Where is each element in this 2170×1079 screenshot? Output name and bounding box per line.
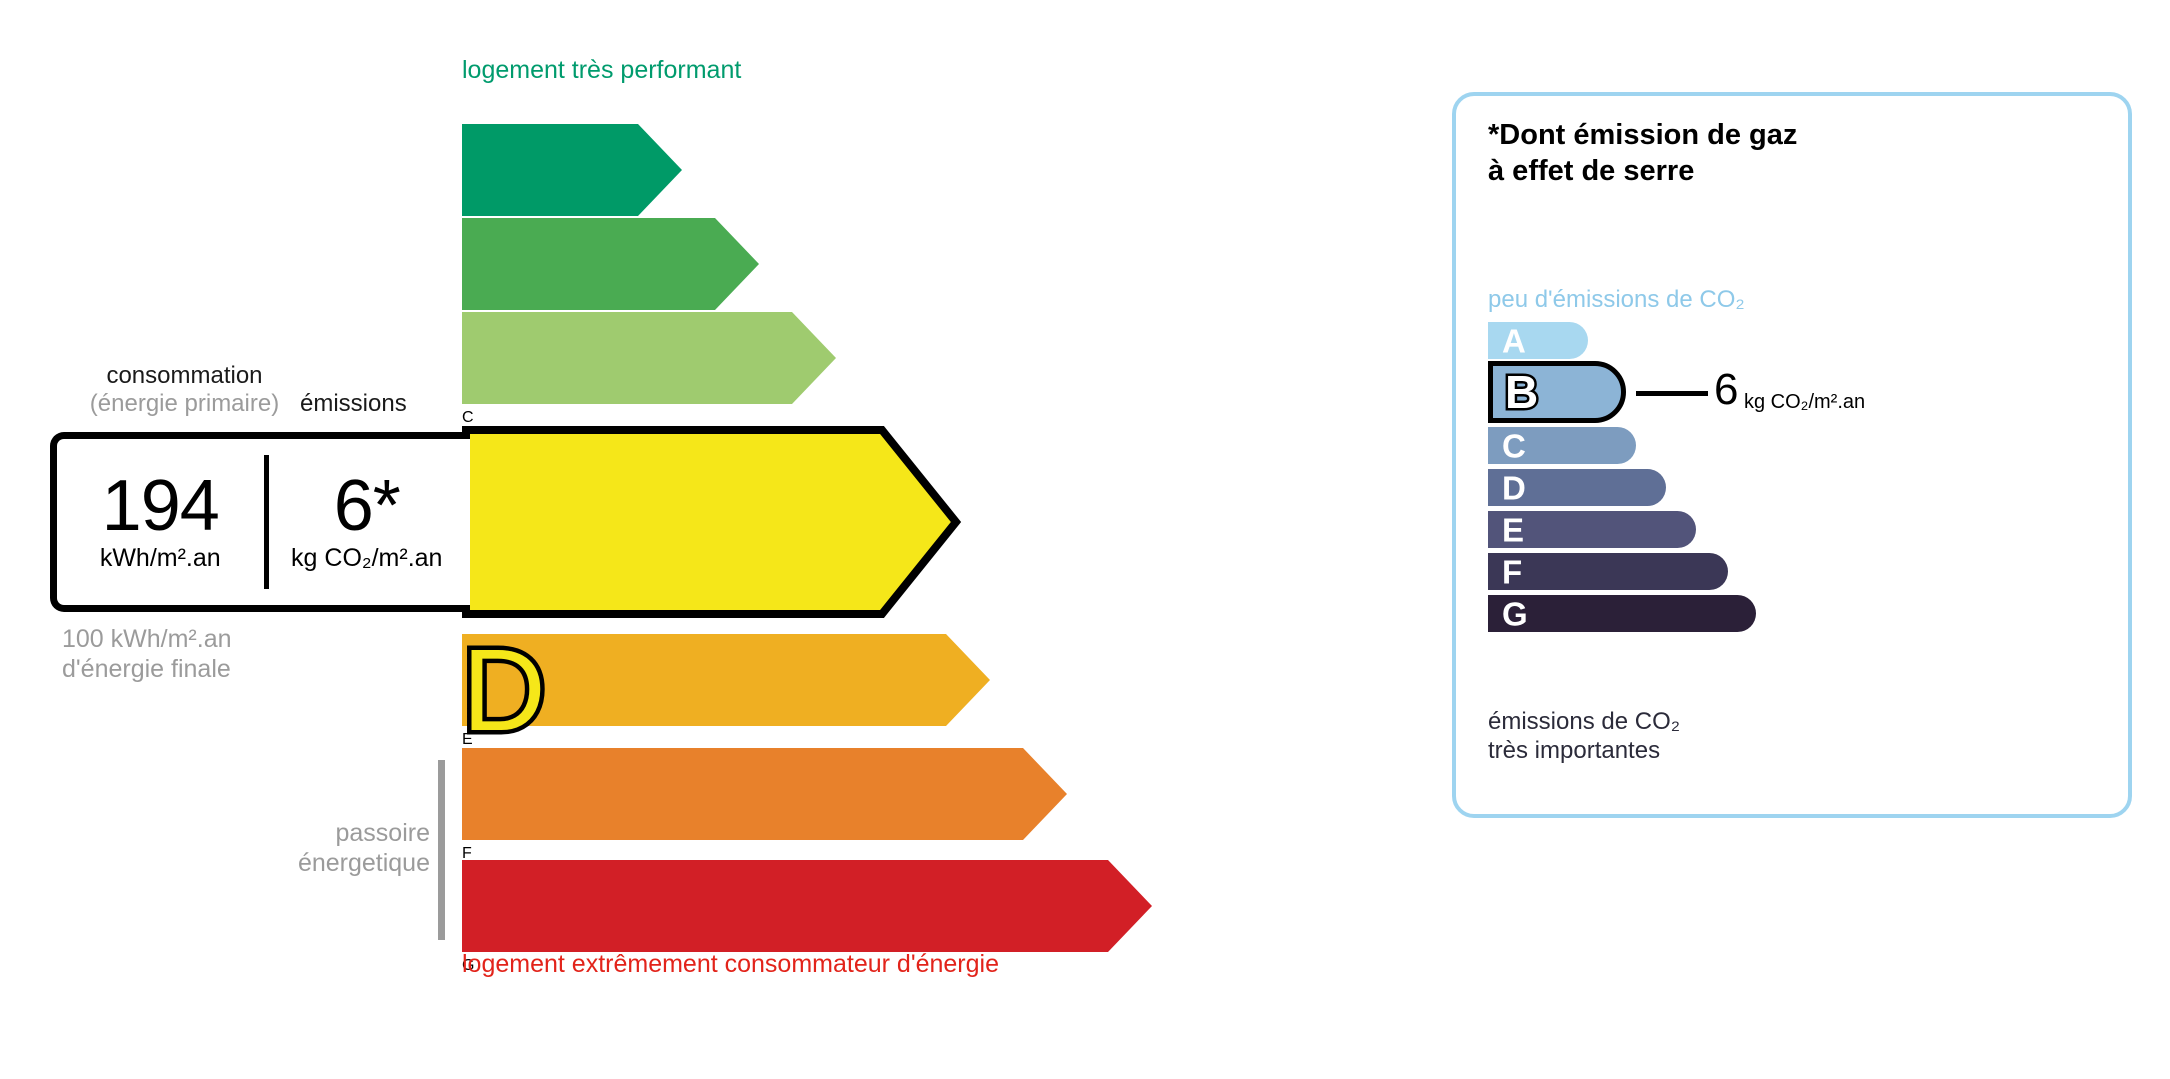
ges-class-letter-g: G — [1502, 597, 1528, 630]
ges-title-line1: *Dont émission de gaz — [1488, 118, 1797, 154]
ges-class-row-g[interactable]: G — [1488, 595, 1756, 632]
ges-bar-c: C — [1488, 427, 1636, 464]
ges-bottom-caption-line1: émissions de CO₂ — [1488, 708, 1680, 737]
ges-class-row-e[interactable]: E — [1488, 511, 1696, 548]
ges-class-letter-a: A — [1502, 324, 1526, 357]
ges-class-letter-c: C — [1502, 429, 1526, 462]
consumption-value: 194 — [102, 471, 219, 542]
ges-bar-g: G — [1488, 595, 1756, 632]
energy-arrow-c — [462, 312, 836, 404]
final-energy-note: 100 kWh/m².an d'énergie finale — [62, 624, 232, 684]
ges-bottom-caption: émissions de CO₂ très importantes — [1488, 708, 1680, 766]
dpe-value-box: 194 kWh/m².an 6* kg CO₂/m².an — [50, 432, 470, 612]
ges-class-row-b-selected[interactable]: B — [1488, 361, 1626, 423]
consumption-unit: kWh/m².an — [100, 544, 221, 573]
ges-class-letter-d: D — [1502, 471, 1526, 504]
energy-arrow-a — [462, 124, 682, 216]
dpe-energy-panel: logement très performant A B C D E — [0, 0, 1400, 1079]
consumption-header-line1: consommation — [106, 362, 262, 389]
final-energy-line1: 100 kWh/m².an — [62, 624, 232, 654]
ges-co2-panel: *Dont émission de gaz à effet de serre p… — [1452, 92, 2132, 818]
consumption-header: consommation (énergie primaire) — [62, 362, 307, 419]
energy-class-row-g[interactable]: G — [462, 860, 1152, 952]
ges-leader-line — [1636, 391, 1708, 396]
ges-class-row-f[interactable]: F — [1488, 553, 1728, 590]
ges-class-row-d[interactable]: D — [1488, 469, 1666, 506]
energy-class-row-c[interactable]: C — [462, 312, 836, 404]
energy-arrow-b — [462, 218, 759, 310]
energy-scale-bottom-caption: logement extrêmement consommateur d'éner… — [462, 950, 999, 979]
ges-bar-a: A — [1488, 322, 1588, 359]
ges-bottom-caption-line2: très importantes — [1488, 737, 1680, 766]
final-energy-line2: d'énergie finale — [62, 654, 232, 684]
energy-arrow-f — [462, 748, 1067, 840]
energy-class-letter-d: D — [462, 625, 546, 755]
energy-arrow-d-selected — [462, 426, 962, 618]
ges-bar-d: D — [1488, 469, 1666, 506]
energy-class-row-d[interactable]: D — [462, 426, 962, 618]
energy-arrow-g — [462, 860, 1152, 952]
consumption-header-line2: (énergie primaire) — [62, 390, 307, 418]
ges-value-unit: kg CO₂/m².an — [1744, 392, 1865, 412]
ges-title-line2: à effet de serre — [1488, 154, 1797, 190]
passoire-bracket — [438, 760, 445, 940]
ges-class-row-a[interactable]: A — [1488, 322, 1588, 359]
energy-class-letter-c: C — [462, 409, 474, 426]
energy-scale-top-caption: logement très performant — [462, 56, 741, 85]
emissions-unit: kg CO₂/m².an — [291, 544, 442, 573]
energy-class-row-a[interactable]: A — [462, 124, 682, 216]
energy-class-row-f[interactable]: F — [462, 748, 1067, 840]
ges-top-caption: peu d'émissions de CO₂ — [1488, 286, 1745, 314]
passoire-line2: énergetique — [250, 848, 430, 878]
ges-panel-title: *Dont émission de gaz à effet de serre — [1488, 118, 1797, 190]
consumption-value-cell: 194 kWh/m².an — [57, 439, 264, 605]
ges-value: 6 — [1714, 368, 1738, 412]
ges-class-letter-f: F — [1502, 555, 1522, 588]
ges-class-row-c[interactable]: C — [1488, 427, 1636, 464]
ges-class-letter-b: B — [1505, 369, 1538, 415]
energy-class-row-b[interactable]: B — [462, 218, 759, 310]
passoire-label: passoire énergetique — [250, 818, 430, 878]
emissions-value-cell: 6* kg CO₂/m².an — [264, 439, 471, 605]
ges-bar-f: F — [1488, 553, 1728, 590]
emissions-header: émissions — [300, 390, 407, 418]
ges-bar-b: B — [1488, 361, 1626, 423]
emissions-value: 6* — [334, 471, 400, 542]
passoire-line1: passoire — [250, 818, 430, 848]
ges-class-letter-e: E — [1502, 513, 1524, 546]
ges-bar-e: E — [1488, 511, 1696, 548]
